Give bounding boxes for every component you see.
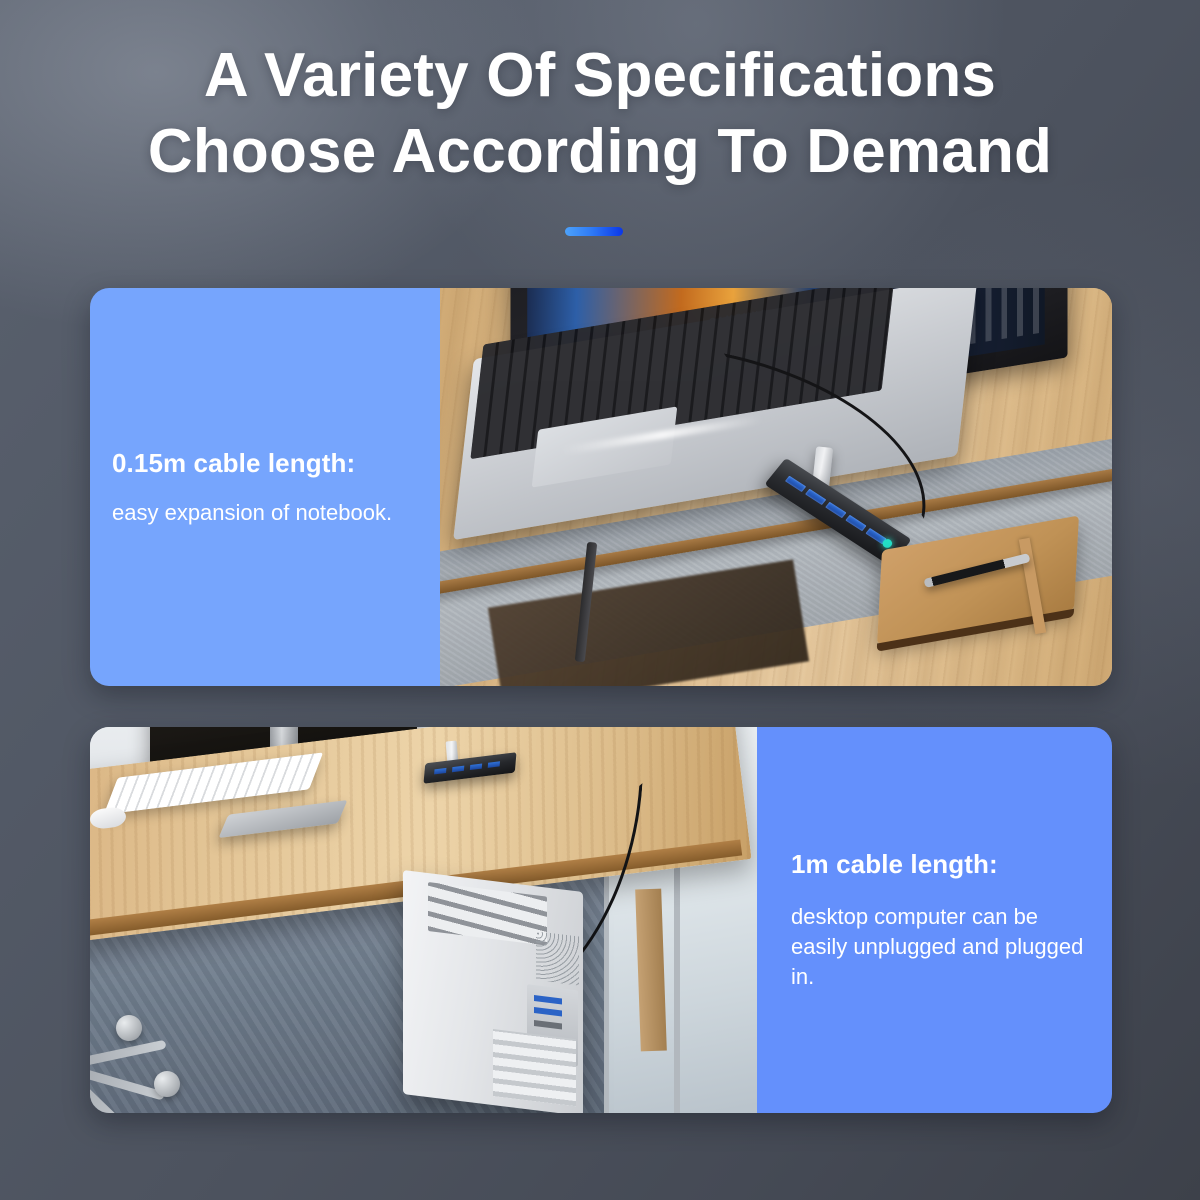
tower-usb-port xyxy=(535,1008,563,1017)
chair-leg xyxy=(90,1040,167,1071)
card-text-panel: 0.15m cable length: easy expansion of no… xyxy=(90,288,440,686)
card-body: desktop computer can be easily unplugged… xyxy=(791,902,1091,992)
usb-port xyxy=(805,489,826,505)
usb-port xyxy=(784,476,805,492)
page-title-line-2: Choose According To Demand xyxy=(0,114,1200,190)
spec-card-0.15m: 0.15m cable length: easy expansion of no… xyxy=(90,288,1112,686)
tower-usb-port xyxy=(535,996,563,1005)
card-photo-laptop-desk: SAMSUNG xyxy=(440,288,1112,686)
tower-vents xyxy=(429,882,548,946)
tower-expansion-slots xyxy=(494,1029,577,1106)
page-title: A Variety Of Specifications Choose Accor… xyxy=(0,38,1200,190)
white-pc-tower xyxy=(403,870,583,1113)
card-body: easy expansion of notebook. xyxy=(112,499,440,527)
tower-mesh xyxy=(537,931,580,986)
desk-leg xyxy=(635,889,667,1052)
chair-caster xyxy=(116,1015,142,1041)
chair-caster xyxy=(154,1071,180,1097)
usb-port xyxy=(434,768,446,775)
usb-port xyxy=(825,502,846,518)
page-title-line-1: A Variety Of Specifications xyxy=(0,38,1200,114)
accent-divider xyxy=(565,227,623,236)
card-heading: 0.15m cable length: xyxy=(112,447,440,479)
infographic-page: A Variety Of Specifications Choose Accor… xyxy=(0,0,1200,1200)
tower-audio-port xyxy=(535,1020,563,1029)
office-chair xyxy=(90,985,240,1105)
usb-port xyxy=(487,761,499,768)
card-heading: 1m cable length: xyxy=(791,848,1112,880)
card-photo-office-desk xyxy=(90,727,757,1113)
card-text-panel: 1m cable length: desktop computer can be… xyxy=(757,727,1112,1113)
spec-card-1m: 1m cable length: desktop computer can be… xyxy=(90,727,1112,1113)
usb-port xyxy=(451,766,463,773)
usb-port xyxy=(469,763,481,770)
usb-port xyxy=(845,515,866,531)
